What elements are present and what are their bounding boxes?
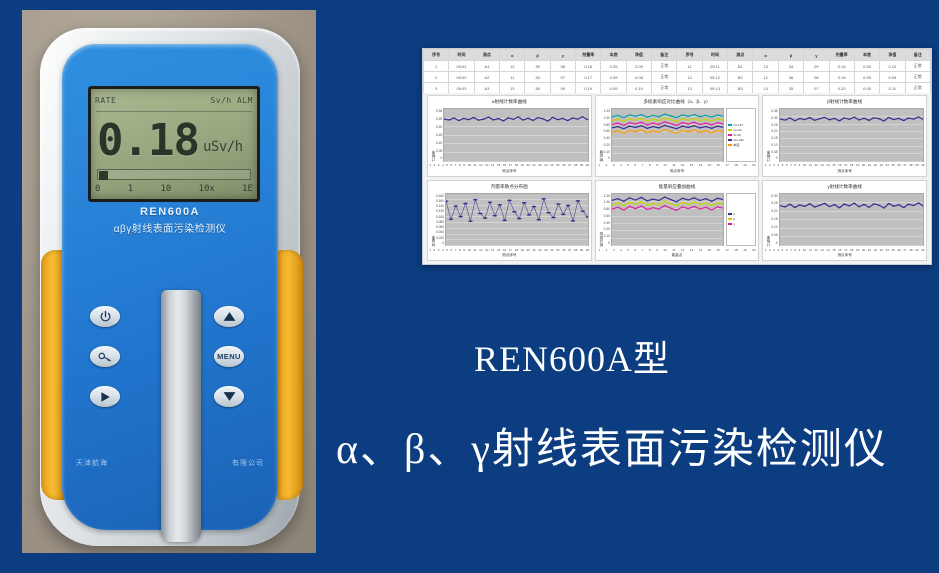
chart-y-ticks: 0.1800.1600.1400.1200.1000.0800.0600.040… bbox=[436, 193, 445, 247]
table-cell: 11 bbox=[500, 72, 525, 83]
table-cell: 0.09 bbox=[854, 61, 879, 72]
chart-x-tick: 30 bbox=[586, 163, 589, 167]
chart-x-tick: 24 bbox=[886, 248, 889, 252]
chart-x-tick: 20 bbox=[862, 248, 865, 252]
page-title-model: REN600A型 bbox=[474, 330, 670, 382]
lcd-scale-tick: 10 bbox=[160, 184, 171, 194]
chart-x-tick: 29 bbox=[915, 248, 918, 252]
table-header-cell: β bbox=[525, 50, 550, 61]
table-header-cell: 备注 bbox=[905, 50, 930, 61]
chart-plot-area bbox=[445, 193, 589, 247]
chart-x-tick: 5 bbox=[782, 163, 784, 167]
chart-x-tick: 23 bbox=[880, 163, 883, 167]
chart-x-ticks: 1234567891011121314151617181920212223242… bbox=[428, 162, 591, 169]
chart-y-tick: 0.30 bbox=[771, 116, 777, 120]
chart-legend: αβγ bbox=[726, 193, 756, 247]
chart-x-tick: 19 bbox=[743, 163, 746, 167]
chart-x-tick: 6 bbox=[635, 163, 637, 167]
lcd-scale-tick: 1E bbox=[242, 184, 253, 194]
chart-x-tick: 11 bbox=[809, 248, 812, 252]
chart-legend-item: Sr-90 bbox=[728, 133, 754, 137]
chart-x-tick: 2 bbox=[606, 163, 608, 167]
chart-y-tick: 0.20 bbox=[436, 125, 442, 129]
table-cell: 0.19 bbox=[576, 83, 601, 94]
chart-x-axis-label: 测点序号 bbox=[596, 169, 759, 176]
chart-y-axis-label: 计数率 bbox=[429, 108, 436, 162]
chart-x-tick: 6 bbox=[786, 248, 788, 252]
table-header-cell: 时间 bbox=[702, 50, 727, 61]
chart-plot-area bbox=[779, 193, 924, 247]
chart-x-tick: 11 bbox=[473, 248, 476, 252]
chart-y-tick: 0.05 bbox=[771, 150, 777, 154]
key-icon bbox=[98, 351, 112, 363]
chart-x-tick: 9 bbox=[656, 163, 658, 167]
table-header-cell: α bbox=[500, 50, 525, 61]
chart-x-tick: 20 bbox=[527, 163, 530, 167]
down-button[interactable] bbox=[214, 386, 244, 407]
table-row[interactable]: 109:01A11235080.180.090.09正常1109:11B1133… bbox=[424, 61, 931, 72]
chart-x-tick: 3 bbox=[438, 248, 440, 252]
table-cell: 09 bbox=[550, 83, 575, 94]
chart-y-tick: 0.120 bbox=[436, 209, 444, 213]
chart-x-axis-label: 测点序号 bbox=[428, 253, 591, 260]
chart-x-tick: 20 bbox=[752, 248, 755, 252]
table-header-cell: 测点 bbox=[474, 50, 499, 61]
table-cell: 正常 bbox=[652, 72, 677, 83]
table-header-cell: α bbox=[753, 50, 778, 61]
chart-x-tick: 17 bbox=[725, 163, 728, 167]
chart-gridline bbox=[780, 245, 923, 246]
table-header-cell: 剂量率 bbox=[576, 50, 601, 61]
chart-y-tick: 0.20 bbox=[771, 129, 777, 133]
chart-x-tick: 10 bbox=[803, 163, 806, 167]
chart-x-tick: 27 bbox=[903, 163, 906, 167]
lcd-status-right: Sv/h ALM bbox=[210, 96, 253, 105]
table-cell: 12 bbox=[753, 72, 778, 83]
chart-x-tick: 24 bbox=[886, 163, 889, 167]
device-label-model: REN600A bbox=[62, 206, 278, 218]
chart-y-tick: 0 bbox=[436, 156, 442, 160]
table-cell: 09:12 bbox=[702, 72, 727, 83]
table-cell: 33 bbox=[525, 72, 550, 83]
lcd-value: 0.18 bbox=[97, 119, 199, 163]
chart-y-tick: 0.140 bbox=[436, 204, 444, 208]
chart-body: 响应值1.201.000.800.600.400.200.100Cs-137Co… bbox=[596, 107, 759, 162]
chart-y-tick: 0.100 bbox=[436, 215, 444, 219]
chart-plot-area bbox=[443, 108, 588, 162]
chart-x-tick: 11 bbox=[672, 248, 675, 252]
chart-x-tick: 15 bbox=[708, 163, 711, 167]
chart-card[interactable]: 剂量率散点分布图剂量率0.1800.1600.1400.1200.1000.08… bbox=[427, 180, 592, 262]
chart-y-tick: 0.15 bbox=[771, 217, 777, 221]
table-cell: 0.11 bbox=[880, 83, 905, 94]
chart-x-tick: 12 bbox=[681, 248, 684, 252]
chart-legend-label: Am-241 bbox=[733, 138, 744, 142]
table-cell: 正常 bbox=[905, 72, 930, 83]
chart-x-ticks: 1234567891011121314151617181920212223242… bbox=[763, 162, 926, 169]
table-cell: 09:13 bbox=[702, 83, 727, 94]
chart-y-tick: 0.10 bbox=[436, 141, 442, 145]
chart-x-tick: 26 bbox=[897, 163, 900, 167]
chart-x-tick: 19 bbox=[521, 248, 524, 252]
lcd-scale-tick: 1 bbox=[128, 184, 133, 194]
chart-legend-item: α bbox=[728, 212, 754, 216]
chart-x-tick: 14 bbox=[699, 163, 702, 167]
table-cell: 07 bbox=[804, 83, 829, 94]
chart-x-tick: 9 bbox=[799, 248, 801, 252]
chart-y-ticks: 0.350.300.250.200.150.100.050 bbox=[771, 108, 778, 162]
chart-x-tick: 21 bbox=[868, 163, 871, 167]
lcd-unit: uSv/h bbox=[203, 139, 243, 155]
chart-x-tick: 26 bbox=[897, 248, 900, 252]
chart-legend-item: Co-60 bbox=[728, 128, 754, 132]
chart-y-tick: 0.10 bbox=[604, 150, 610, 154]
chart-y-tick: 0.35 bbox=[771, 109, 777, 113]
chart-y-tick: 0.060 bbox=[436, 225, 444, 229]
chart-x-tick: 7 bbox=[642, 163, 644, 167]
table-cell: 2 bbox=[424, 72, 449, 83]
chart-x-tick: 16 bbox=[717, 248, 720, 252]
chart-x-tick: 14 bbox=[491, 248, 494, 252]
chart-x-tick: 7 bbox=[790, 248, 792, 252]
chart-y-tick: 0.25 bbox=[771, 123, 777, 127]
chart-x-tick: 26 bbox=[562, 248, 565, 252]
chart-x-tick: 11 bbox=[473, 163, 476, 167]
power-icon bbox=[99, 310, 112, 323]
chart-x-tick: 18 bbox=[515, 163, 518, 167]
software-screenshot-panel: 序号时间测点αβγ剂量率本底净值备注序号时间测点αβγ剂量率本底净值备注109:… bbox=[422, 48, 932, 265]
chart-x-tick: 13 bbox=[820, 163, 823, 167]
chart-x-tick: 25 bbox=[556, 163, 559, 167]
chart-body: 计数率0.350.300.250.200.150.100.050 bbox=[763, 107, 926, 162]
chart-x-tick: 13 bbox=[690, 163, 693, 167]
table-row[interactable]: 309:03A31336090.190.090.10正常1309:13B3143… bbox=[424, 83, 931, 94]
chart-gridline bbox=[780, 161, 923, 162]
chart-y-tick: 0.25 bbox=[436, 117, 442, 121]
table-cell: 0.20 bbox=[829, 83, 854, 94]
lcd-reading: 0.18 uSv/h bbox=[97, 115, 253, 167]
chart-x-tick: 25 bbox=[556, 248, 559, 252]
chart-x-tick: 6 bbox=[451, 163, 453, 167]
chart-x-tick: 10 bbox=[803, 248, 806, 252]
chart-x-ticks: 1234567891011121314151617181920212223242… bbox=[428, 246, 591, 253]
table-cell: B2 bbox=[728, 72, 753, 83]
table-cell: 35 bbox=[778, 83, 803, 94]
chart-y-tick: 0.020 bbox=[436, 236, 444, 240]
chart-y-ticks: 1.201.000.800.600.400.200.100 bbox=[604, 193, 611, 247]
chart-y-tick: 0.15 bbox=[771, 136, 777, 140]
table-header-cell: γ bbox=[804, 50, 829, 61]
table-cell: 08 bbox=[550, 61, 575, 72]
device-bottom-mark-left: 天津航海 bbox=[76, 458, 108, 468]
chart-gridline bbox=[612, 245, 723, 246]
chart-gridline bbox=[444, 161, 587, 162]
chart-x-axis-label: 能量点 bbox=[596, 253, 759, 260]
chart-x-tick: 7 bbox=[455, 248, 457, 252]
chart-x-tick: 3 bbox=[773, 163, 775, 167]
chart-x-tick: 13 bbox=[485, 248, 488, 252]
table-cell: 0.09 bbox=[601, 83, 626, 94]
chart-x-tick: 19 bbox=[743, 248, 746, 252]
chart-card[interactable]: 能量响应叠加曲线相对响应1.201.000.800.600.400.200.10… bbox=[595, 180, 760, 262]
chart-y-axis-label: 响应值 bbox=[597, 108, 604, 162]
chart-y-tick: 1.00 bbox=[604, 116, 610, 120]
table-cell: 14 bbox=[753, 83, 778, 94]
table-header-cell: 时间 bbox=[449, 50, 474, 61]
chart-x-tick: 28 bbox=[909, 248, 912, 252]
table-header-row: 序号时间测点αβγ剂量率本底净值备注序号时间测点αβγ剂量率本底净值备注 bbox=[424, 50, 931, 61]
chart-x-tick: 16 bbox=[717, 163, 720, 167]
chart-x-tick: 5 bbox=[782, 248, 784, 252]
chart-x-tick: 7 bbox=[455, 163, 457, 167]
chart-legend-label: Sr-90 bbox=[733, 133, 740, 137]
chart-x-tick: 12 bbox=[479, 248, 482, 252]
chart-x-tick: 1 bbox=[598, 248, 600, 252]
table-cell: 0.09 bbox=[854, 83, 879, 94]
chart-y-ticks: 1.201.000.800.600.400.200.100 bbox=[604, 108, 611, 162]
chart-x-tick: 23 bbox=[880, 248, 883, 252]
chart-x-tick: 2 bbox=[769, 248, 771, 252]
chart-x-tick: 13 bbox=[820, 248, 823, 252]
chart-x-tick: 11 bbox=[672, 163, 675, 167]
table-row[interactable]: 209:02A21133070.170.090.08正常1209:12B2123… bbox=[424, 72, 931, 83]
chart-x-tick: 26 bbox=[562, 163, 565, 167]
lcd-bargraph bbox=[97, 169, 251, 180]
table-header-cell: 本底 bbox=[601, 50, 626, 61]
table-cell: 0.18 bbox=[576, 61, 601, 72]
chart-x-tick: 15 bbox=[497, 163, 500, 167]
chart-x-tick: 20 bbox=[527, 248, 530, 252]
chart-x-tick: 18 bbox=[734, 248, 737, 252]
chart-x-tick: 20 bbox=[752, 163, 755, 167]
table-cell: 0.09 bbox=[854, 72, 879, 83]
chart-y-tick: 0.60 bbox=[604, 129, 610, 133]
chart-y-tick: 0 bbox=[604, 241, 610, 245]
table-cell: 0.09 bbox=[880, 72, 905, 83]
chart-legend: Cs-137Co-60Sr-90Am-241本底 bbox=[726, 108, 756, 162]
chart-x-tick: 6 bbox=[786, 163, 788, 167]
chart-x-tick: 13 bbox=[690, 248, 693, 252]
table-header-cell: β bbox=[778, 50, 803, 61]
chart-x-tick: 3 bbox=[613, 163, 615, 167]
chart-x-tick: 16 bbox=[838, 163, 841, 167]
table-header-cell: 净值 bbox=[626, 50, 651, 61]
power-button[interactable] bbox=[90, 306, 120, 327]
table-cell: A2 bbox=[474, 72, 499, 83]
chart-x-tick: 12 bbox=[814, 163, 817, 167]
chart-x-tick: 4 bbox=[620, 163, 622, 167]
table-header-cell: 备注 bbox=[652, 50, 677, 61]
chart-y-tick: 0.40 bbox=[604, 136, 610, 140]
chart-card[interactable]: α射线计数率曲线计数率0.300.250.200.150.100.0501234… bbox=[427, 95, 592, 177]
chart-x-tick: 8 bbox=[794, 248, 796, 252]
chart-y-tick: 0.180 bbox=[436, 194, 444, 198]
table-header-cell: 剂量率 bbox=[829, 50, 854, 61]
table-cell: 正常 bbox=[652, 83, 677, 94]
table-cell: 0.08 bbox=[626, 72, 651, 83]
chart-y-tick: 0 bbox=[436, 241, 444, 245]
table-cell: 13 bbox=[500, 83, 525, 94]
table-cell: 3 bbox=[424, 83, 449, 94]
chart-legend-swatch bbox=[728, 144, 732, 146]
chart-y-tick: 0 bbox=[604, 156, 610, 160]
device-grip-right bbox=[277, 250, 303, 500]
chart-x-tick: 29 bbox=[580, 248, 583, 252]
chart-x-tick: 17 bbox=[725, 248, 728, 252]
chart-x-tick: 20 bbox=[862, 163, 865, 167]
chart-y-tick: 0.05 bbox=[436, 149, 442, 153]
chart-legend-label: Co-60 bbox=[733, 128, 741, 132]
chart-x-tick: 12 bbox=[814, 248, 817, 252]
chart-x-tick: 10 bbox=[663, 248, 666, 252]
table-cell: 09:11 bbox=[702, 61, 727, 72]
table-cell: 13 bbox=[677, 83, 702, 94]
chart-x-tick: 15 bbox=[832, 248, 835, 252]
chart-legend-item: β bbox=[728, 217, 754, 221]
chart-y-tick: 0.15 bbox=[436, 133, 442, 137]
chart-x-tick: 24 bbox=[550, 163, 553, 167]
chart-y-ticks: 0.300.250.200.150.100.050 bbox=[436, 108, 443, 162]
chart-x-tick: 2 bbox=[434, 163, 436, 167]
chart-x-tick: 3 bbox=[438, 163, 440, 167]
chart-x-tick: 6 bbox=[635, 248, 637, 252]
chart-x-ticks: 1234567891011121314151617181920 bbox=[596, 246, 759, 253]
chart-x-tick: 5 bbox=[446, 248, 448, 252]
table-cell: 08 bbox=[804, 72, 829, 83]
chart-legend-swatch bbox=[728, 134, 732, 136]
chart-legend-item: γ bbox=[728, 222, 754, 226]
chart-x-tick: 14 bbox=[491, 163, 494, 167]
chart-x-tick: 1 bbox=[765, 248, 767, 252]
chart-card[interactable]: γ射线计数率曲线计数率0.300.250.200.150.100.0501234… bbox=[762, 180, 927, 262]
lcd-scale: 011010x1E bbox=[95, 182, 253, 196]
chart-x-tick: 28 bbox=[909, 163, 912, 167]
chart-body: 剂量率0.1800.1600.1400.1200.1000.0800.0600.… bbox=[428, 192, 591, 247]
table-cell: A3 bbox=[474, 83, 499, 94]
chart-x-tick: 27 bbox=[568, 163, 571, 167]
chart-y-axis-label: 剂量率 bbox=[429, 193, 436, 247]
table-header-cell: 序号 bbox=[677, 50, 702, 61]
chart-x-tick: 5 bbox=[627, 248, 629, 252]
chart-title: β射线计数率曲线 bbox=[763, 96, 926, 107]
chart-x-tick: 9 bbox=[463, 248, 465, 252]
table-header-cell: 本底 bbox=[854, 50, 879, 61]
table-cell: 09:01 bbox=[449, 61, 474, 72]
page-title-product: α、β、γ射线表面污染检测仪 bbox=[336, 415, 888, 476]
chart-x-tick: 10 bbox=[468, 248, 471, 252]
device-center-strip bbox=[161, 290, 201, 542]
chart-gridline bbox=[446, 245, 588, 246]
chart-y-axis-label: 相对响应 bbox=[597, 193, 604, 247]
chart-x-tick: 4 bbox=[442, 163, 444, 167]
play-button[interactable] bbox=[90, 386, 120, 407]
chart-x-tick: 17 bbox=[509, 163, 512, 167]
device-label-desc: αβγ射线表面污染检测仪 bbox=[62, 220, 278, 235]
table-cell: 35 bbox=[525, 61, 550, 72]
chart-y-axis-label: 计数率 bbox=[764, 193, 771, 247]
chart-x-tick: 14 bbox=[826, 163, 829, 167]
chart-x-tick: 4 bbox=[620, 248, 622, 252]
chart-y-tick: 0.30 bbox=[436, 109, 442, 113]
chart-legend-label: Cs-137 bbox=[733, 123, 743, 127]
lcd-scale-tick: 10x bbox=[199, 184, 215, 194]
chart-x-tick: 27 bbox=[568, 248, 571, 252]
chart-x-tick: 2 bbox=[769, 163, 771, 167]
table-cell: 0.09 bbox=[601, 61, 626, 72]
menu-button[interactable]: MENU bbox=[214, 346, 244, 367]
chart-x-tick: 21 bbox=[532, 248, 535, 252]
chart-x-tick: 4 bbox=[777, 163, 779, 167]
chart-x-tick: 8 bbox=[459, 248, 461, 252]
table-cell: 36 bbox=[778, 72, 803, 83]
chart-y-tick: 0.040 bbox=[436, 230, 444, 234]
chart-plot-area bbox=[611, 193, 724, 247]
chart-x-tick: 12 bbox=[681, 163, 684, 167]
up-button[interactable] bbox=[214, 306, 244, 327]
chart-x-tick: 18 bbox=[850, 163, 853, 167]
device-bottom-mark-right: 有限公司 bbox=[232, 458, 264, 468]
chart-x-tick: 1 bbox=[765, 163, 767, 167]
chart-x-tick: 21 bbox=[868, 248, 871, 252]
chart-card[interactable]: 多核素响应对比曲线（α、β、γ）响应值1.201.000.800.600.400… bbox=[595, 95, 760, 177]
chart-x-tick: 18 bbox=[515, 248, 518, 252]
table-cell: 0.18 bbox=[829, 72, 854, 83]
chart-legend-swatch bbox=[728, 124, 732, 126]
chart-x-tick: 1 bbox=[598, 163, 600, 167]
table-cell: 0.09 bbox=[601, 72, 626, 83]
chart-x-tick: 1 bbox=[429, 248, 431, 252]
chart-x-tick: 30 bbox=[586, 248, 589, 252]
chart-x-tick: 3 bbox=[613, 248, 615, 252]
table-cell: 0.09 bbox=[626, 61, 651, 72]
chart-legend-swatch bbox=[728, 129, 732, 131]
chart-y-tick: 0.80 bbox=[604, 123, 610, 127]
table-cell: 0.10 bbox=[626, 83, 651, 94]
chart-x-tick: 30 bbox=[921, 248, 924, 252]
chart-x-tick: 15 bbox=[497, 248, 500, 252]
chart-x-tick: 17 bbox=[844, 163, 847, 167]
chart-x-tick: 16 bbox=[838, 248, 841, 252]
chart-x-tick: 8 bbox=[459, 163, 461, 167]
chart-plot-area bbox=[779, 108, 924, 162]
chart-x-tick: 17 bbox=[844, 248, 847, 252]
chart-x-tick: 25 bbox=[891, 163, 894, 167]
chart-x-axis-label: 测点序号 bbox=[763, 169, 926, 176]
table-cell: 0.10 bbox=[880, 61, 905, 72]
chart-legend-label: β bbox=[733, 217, 735, 221]
chart-x-tick: 2 bbox=[606, 248, 608, 252]
chart-x-tick: 15 bbox=[832, 163, 835, 167]
chart-y-tick: 0.25 bbox=[771, 201, 777, 205]
key-button[interactable] bbox=[90, 346, 120, 367]
chart-legend-label: α bbox=[733, 212, 735, 216]
chart-card[interactable]: β射线计数率曲线计数率0.350.300.250.200.150.100.050… bbox=[762, 95, 927, 177]
chart-x-tick: 16 bbox=[503, 163, 506, 167]
table-header-cell: 测点 bbox=[728, 50, 753, 61]
chart-y-tick: 0.10 bbox=[604, 234, 610, 238]
chart-x-axis-label: 测点序号 bbox=[428, 169, 591, 176]
data-table: 序号时间测点αβγ剂量率本底净值备注序号时间测点αβγ剂量率本底净值备注109:… bbox=[423, 49, 931, 93]
chart-x-tick: 25 bbox=[891, 248, 894, 252]
chart-x-tick: 6 bbox=[451, 248, 453, 252]
chart-x-tick: 21 bbox=[532, 163, 535, 167]
chart-legend-swatch bbox=[728, 223, 732, 225]
chart-y-ticks: 0.300.250.200.150.100.050 bbox=[771, 193, 778, 247]
triangle-up-icon bbox=[223, 311, 236, 322]
lcd-separator bbox=[96, 111, 252, 112]
chart-y-tick: 0.160 bbox=[436, 199, 444, 203]
chart-x-tick: 8 bbox=[649, 163, 651, 167]
